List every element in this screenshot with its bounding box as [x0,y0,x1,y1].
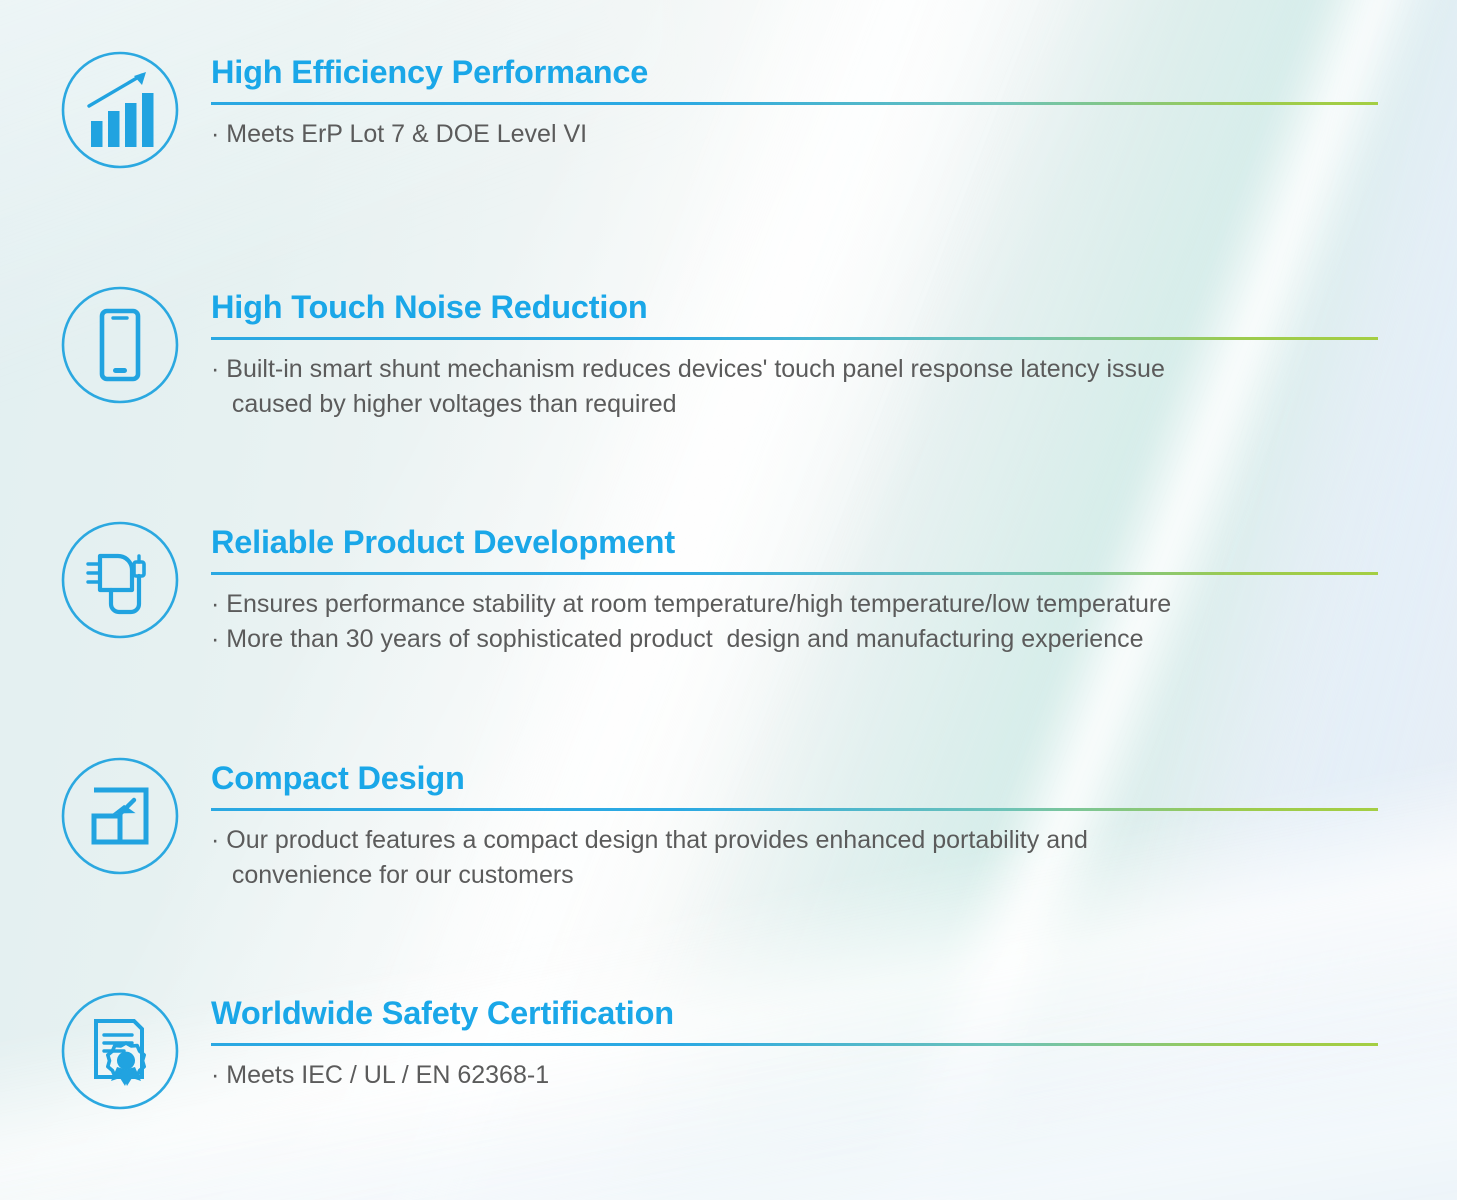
feature-body: High Efficiency Performance · Meets ErP … [211,48,1378,152]
smartphone-icon [58,283,182,407]
feature-title: Compact Design [211,754,1378,795]
feature-title: Reliable Product Development [211,518,1378,559]
feature-body: Worldwide Safety Certification · Meets I… [211,989,1378,1093]
feature-description: · Built-in smart shunt mechanism reduces… [211,352,1378,424]
feature-divider [211,102,1378,105]
feature-line: · Meets ErP Lot 7 & DOE Level VI [211,117,1378,153]
compact-resize-icon [58,754,182,878]
feature-line: · More than 30 years of sophisticated pr… [211,622,1378,658]
feature-line: · Our product features a compact design … [211,823,1378,859]
feature-line: · Built-in smart shunt mechanism reduces… [211,352,1378,388]
feature-line: caused by higher voltages than required [211,387,1378,423]
feature-highlights-page: High Efficiency Performance · Meets ErP … [0,0,1457,1200]
bar-chart-growth-icon [58,48,182,172]
certificate-seal-icon [58,989,182,1113]
feature-body: Reliable Product Development · Ensures p… [211,518,1378,658]
feature-line: · Meets IEC / UL / EN 62368-1 [211,1058,1378,1094]
feature-description: · Meets IEC / UL / EN 62368-1 [211,1058,1378,1094]
feature-title: Worldwide Safety Certification [211,989,1378,1030]
feature-divider [211,1043,1378,1046]
feature-description: · Meets ErP Lot 7 & DOE Level VI [211,117,1378,153]
feature-title: High Touch Noise Reduction [211,283,1378,324]
feature-body: Compact Design · Our product features a … [211,754,1378,894]
feature-divider [211,808,1378,811]
feature-description: · Our product features a compact design … [211,823,1378,895]
feature-divider [211,572,1378,575]
feature-title: High Efficiency Performance [211,48,1378,89]
feature-line: · Ensures performance stability at room … [211,587,1378,623]
feature-divider [211,337,1378,340]
feature-description: · Ensures performance stability at room … [211,587,1378,659]
feature-line: convenience for our customers [211,858,1378,894]
power-adapter-icon [58,518,182,642]
feature-body: High Touch Noise Reduction · Built-in sm… [211,283,1378,423]
